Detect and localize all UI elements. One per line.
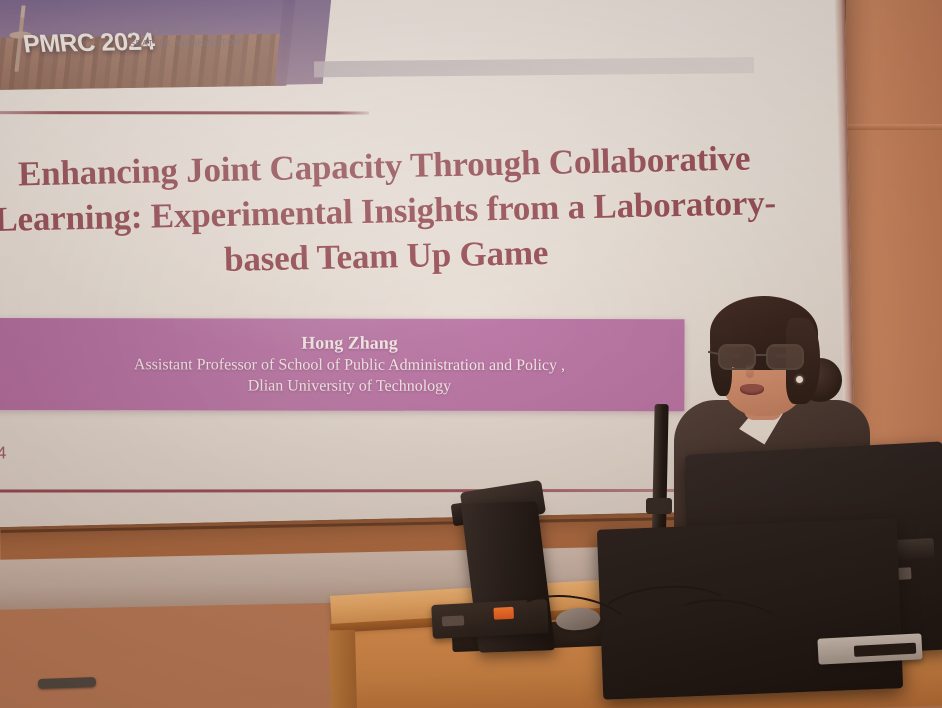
presenter-nose (746, 362, 754, 378)
small-object-on-ledge (38, 677, 96, 689)
conference-location: SEATTLE, WASHINGTON (129, 36, 241, 50)
author-banner: Hong Zhang Assistant Professor of School… (0, 318, 685, 411)
presentation-photo: PMRC 2024 JUNE 26-29, 2024 SEATTLE, WASH… (0, 0, 942, 708)
banner-shadow-strip (314, 57, 754, 77)
author-affiliation-line-1: Assistant Professor of School of Public … (134, 354, 565, 376)
monitor-arm-joint (646, 498, 672, 514)
laptop (817, 633, 922, 664)
orange-indicator-icon (493, 607, 514, 620)
author-affiliation-line-2: Dlian University of Technology (248, 375, 451, 396)
eyeglasses-icon (714, 344, 814, 370)
header-divider (0, 111, 369, 114)
slide-date-stamp: 9/2024 (0, 443, 6, 463)
author-name: Hong Zhang (301, 333, 398, 355)
earring-icon (796, 376, 803, 383)
slide-title: Enhancing Joint Capacity Through Collabo… (0, 135, 807, 288)
conference-meta: JUNE 26-29, 2024 SEATTLE, WASHINGTON (129, 23, 241, 50)
presenter-mouth (740, 384, 764, 395)
podium-desk-leg (329, 630, 357, 708)
conference-dates: JUNE 26-29, 2024 (129, 23, 241, 37)
